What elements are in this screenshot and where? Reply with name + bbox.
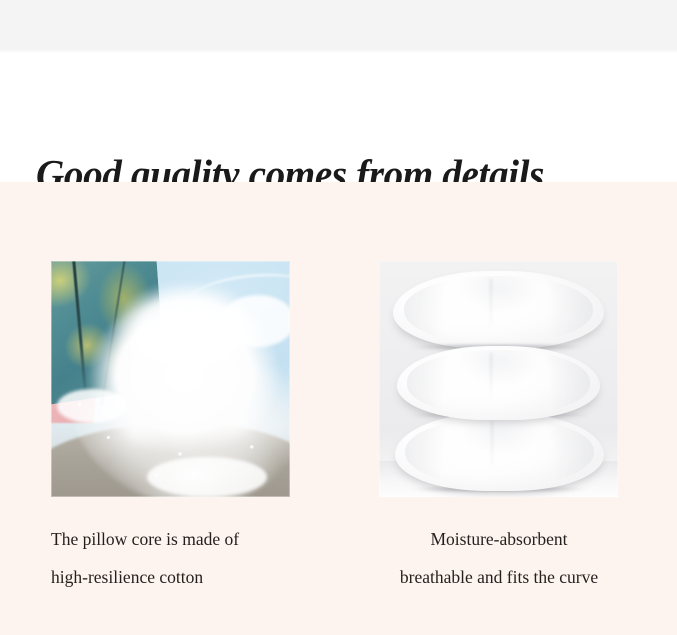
top-gray-strip <box>0 0 677 50</box>
feature-card-pillows[interactable]: Moisture-absorbent breathable and fits t… <box>379 261 618 596</box>
caption-line: The pillow core is made of <box>51 520 290 558</box>
caption-line: breathable and fits the curve <box>375 558 623 596</box>
caption-line: Moisture-absorbent <box>375 520 623 558</box>
caption-line: high-resilience cotton <box>51 558 290 596</box>
feature-caption-pillows: Moisture-absorbent breathable and fits t… <box>375 520 623 596</box>
pillow-stack-photo <box>379 261 618 497</box>
pillow-insert-bottom <box>395 413 604 491</box>
heading-band: Good quality comes from details <box>0 53 677 182</box>
features-section: The pillow core is made of high-resilien… <box>0 182 677 635</box>
product-detail-page: Good quality comes from details <box>0 0 677 635</box>
pillow-insert-middle <box>397 346 600 420</box>
cotton-fill-photo <box>51 261 290 497</box>
pillow-insert-top <box>393 271 604 349</box>
cotton-speckle-texture <box>51 369 290 487</box>
feature-card-cotton[interactable]: The pillow core is made of high-resilien… <box>51 261 290 596</box>
features-grid: The pillow core is made of high-resilien… <box>0 182 677 635</box>
feature-caption-cotton: The pillow core is made of high-resilien… <box>51 520 290 596</box>
